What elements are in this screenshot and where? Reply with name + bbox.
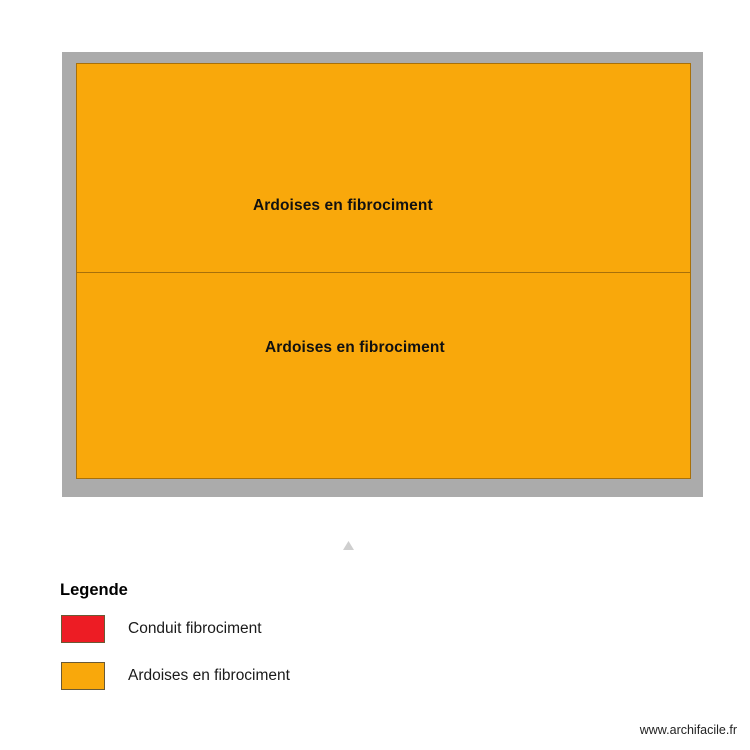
legend-item-label: Conduit fibrociment [128,620,262,638]
roof-surface-lower-label: Ardoises en fibrociment [265,339,445,357]
roof-surface-upper-label: Ardoises en fibrociment [253,197,433,215]
roof-surface-lower[interactable] [76,272,691,479]
wall-opening-marker [343,541,354,550]
roof-surface-upper[interactable] [76,63,691,273]
legend-title: Legende [60,580,458,600]
legend-color-swatch-red [61,615,105,643]
legend-item-conduit-fibrociment[interactable]: Conduit fibrociment [58,614,458,644]
legend-item-ardoises-en-fibrociment[interactable]: Ardoises en fibrociment [58,661,458,691]
footer-website-url: www.archifacile.fr [640,723,737,737]
legend-item-label: Ardoises en fibrociment [128,667,290,685]
legend-color-swatch-orange [61,662,105,690]
floor-plan-canvas[interactable]: Ardoises en fibrociment Ardoises en fibr… [0,0,750,560]
legend: Legende Conduit fibrociment Ardoises en … [58,580,458,708]
